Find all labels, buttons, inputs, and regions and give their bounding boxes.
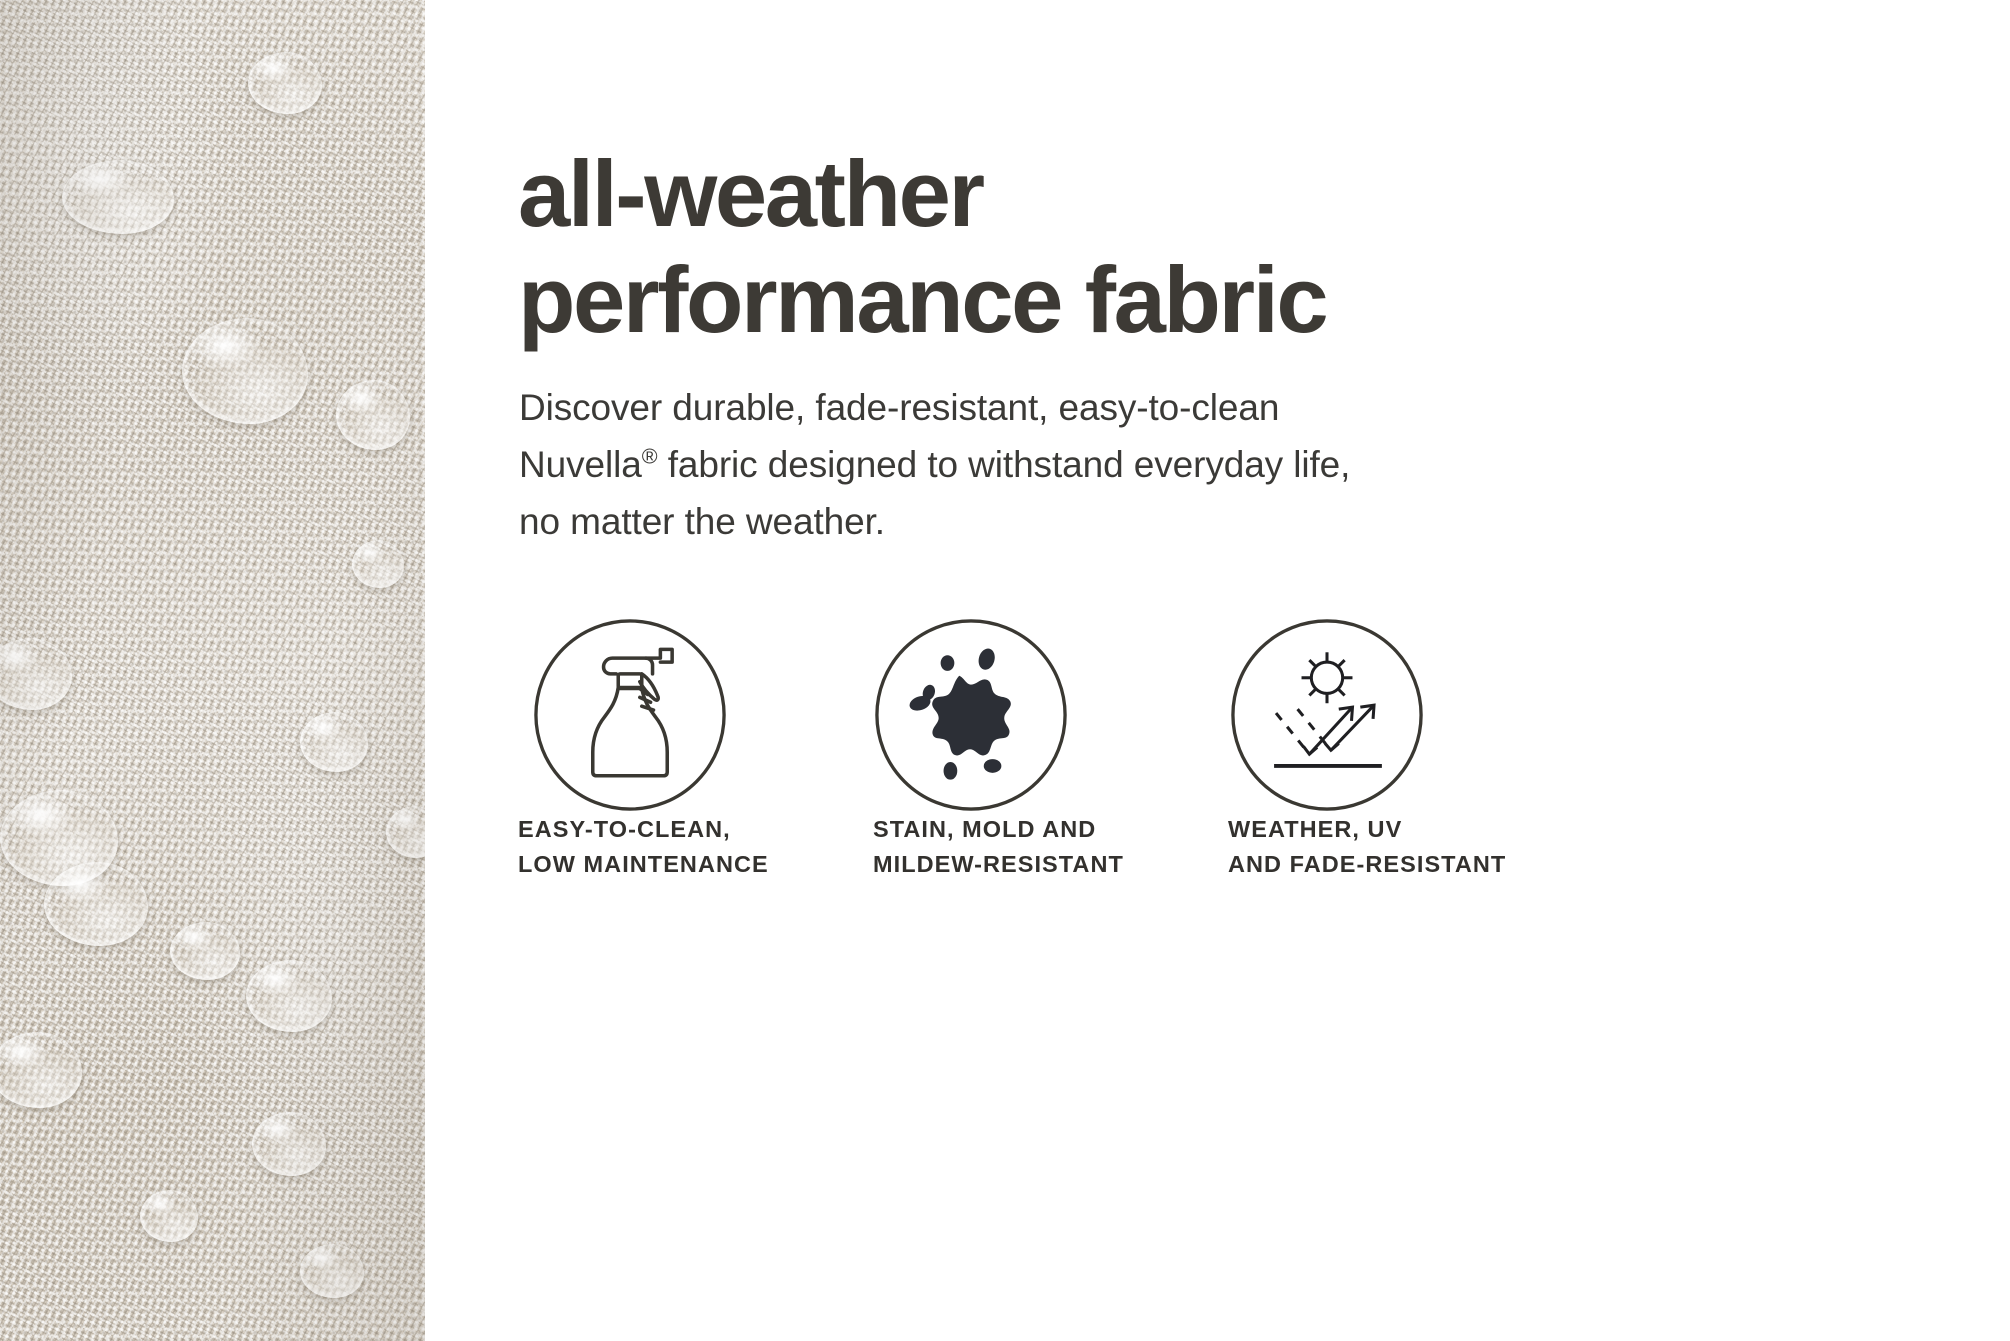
subcopy-line-3: no matter the weather. bbox=[519, 493, 1509, 550]
feature-caption-line-1: STAIN, MOLD AND bbox=[873, 812, 1124, 847]
feature-list: EASY-TO-CLEAN, LOW MAINTENANCE bbox=[518, 617, 1938, 897]
fabric-water-beading-photo bbox=[0, 0, 425, 1341]
feature-caption: WEATHER, UV AND FADE-RESISTANT bbox=[1228, 812, 1506, 882]
feature-caption-line-2: MILDEW-RESISTANT bbox=[873, 847, 1124, 882]
feature-caption-line-2: LOW MAINTENANCE bbox=[518, 847, 769, 882]
feature-caption-line-1: WEATHER, UV bbox=[1228, 812, 1506, 847]
feature-item-easy-to-clean: EASY-TO-CLEAN, LOW MAINTENANCE bbox=[518, 617, 858, 897]
subcopy-paragraph: Discover durable, fade-resistant, easy-t… bbox=[519, 379, 1509, 550]
feature-caption-line-1: EASY-TO-CLEAN, bbox=[518, 812, 769, 847]
page-title: all-weather performance fabric bbox=[518, 141, 1958, 353]
subcopy-line-2-rest: fabric designed to withstand everyday li… bbox=[658, 444, 1351, 485]
content-panel: all-weather performance fabric Discover … bbox=[425, 0, 2010, 1341]
feature-caption: STAIN, MOLD AND MILDEW-RESISTANT bbox=[873, 812, 1124, 882]
subcopy-line-1: Discover durable, fade-resistant, easy-t… bbox=[519, 379, 1509, 436]
feature-item-weather-uv-fade: WEATHER, UV AND FADE-RESISTANT bbox=[1228, 617, 1568, 897]
feature-caption: EASY-TO-CLEAN, LOW MAINTENANCE bbox=[518, 812, 769, 882]
stain-splat-icon bbox=[873, 617, 1069, 813]
fabric-shading-overlay bbox=[0, 0, 425, 1341]
headline-line-1: all-weather bbox=[518, 141, 1958, 247]
all-weather-fabric-banner: all-weather performance fabric Discover … bbox=[0, 0, 2010, 1341]
headline-line-2: performance fabric bbox=[518, 247, 1958, 353]
feature-item-stain-mold-mildew: STAIN, MOLD AND MILDEW-RESISTANT bbox=[873, 617, 1213, 897]
sun-uv-reflect-icon bbox=[1229, 617, 1425, 813]
brand-name: Nuvella bbox=[519, 444, 642, 485]
subcopy-line-2: Nuvella® fabric designed to withstand ev… bbox=[519, 436, 1509, 493]
spray-bottle-icon bbox=[532, 617, 728, 813]
registered-trademark-icon: ® bbox=[642, 445, 658, 469]
feature-caption-line-2: AND FADE-RESISTANT bbox=[1228, 847, 1506, 882]
